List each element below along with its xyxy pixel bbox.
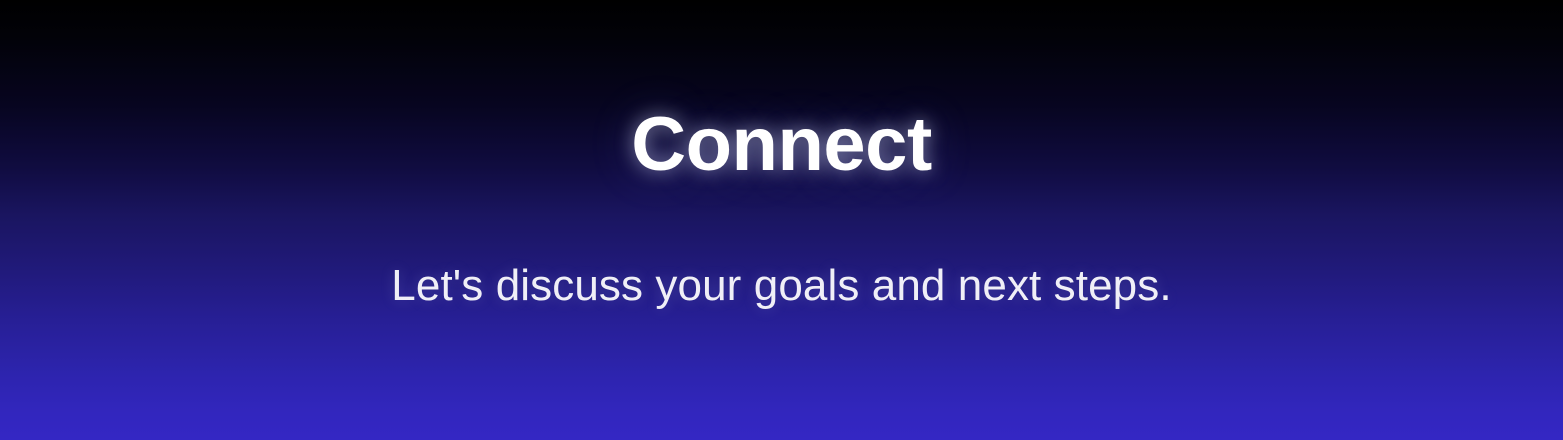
hero-subtitle: Let's discuss your goals and next steps. bbox=[0, 259, 1563, 313]
connect-hero-section: Connect Let's discuss your goals and nex… bbox=[0, 0, 1563, 440]
page-title: Connect bbox=[0, 101, 1563, 189]
